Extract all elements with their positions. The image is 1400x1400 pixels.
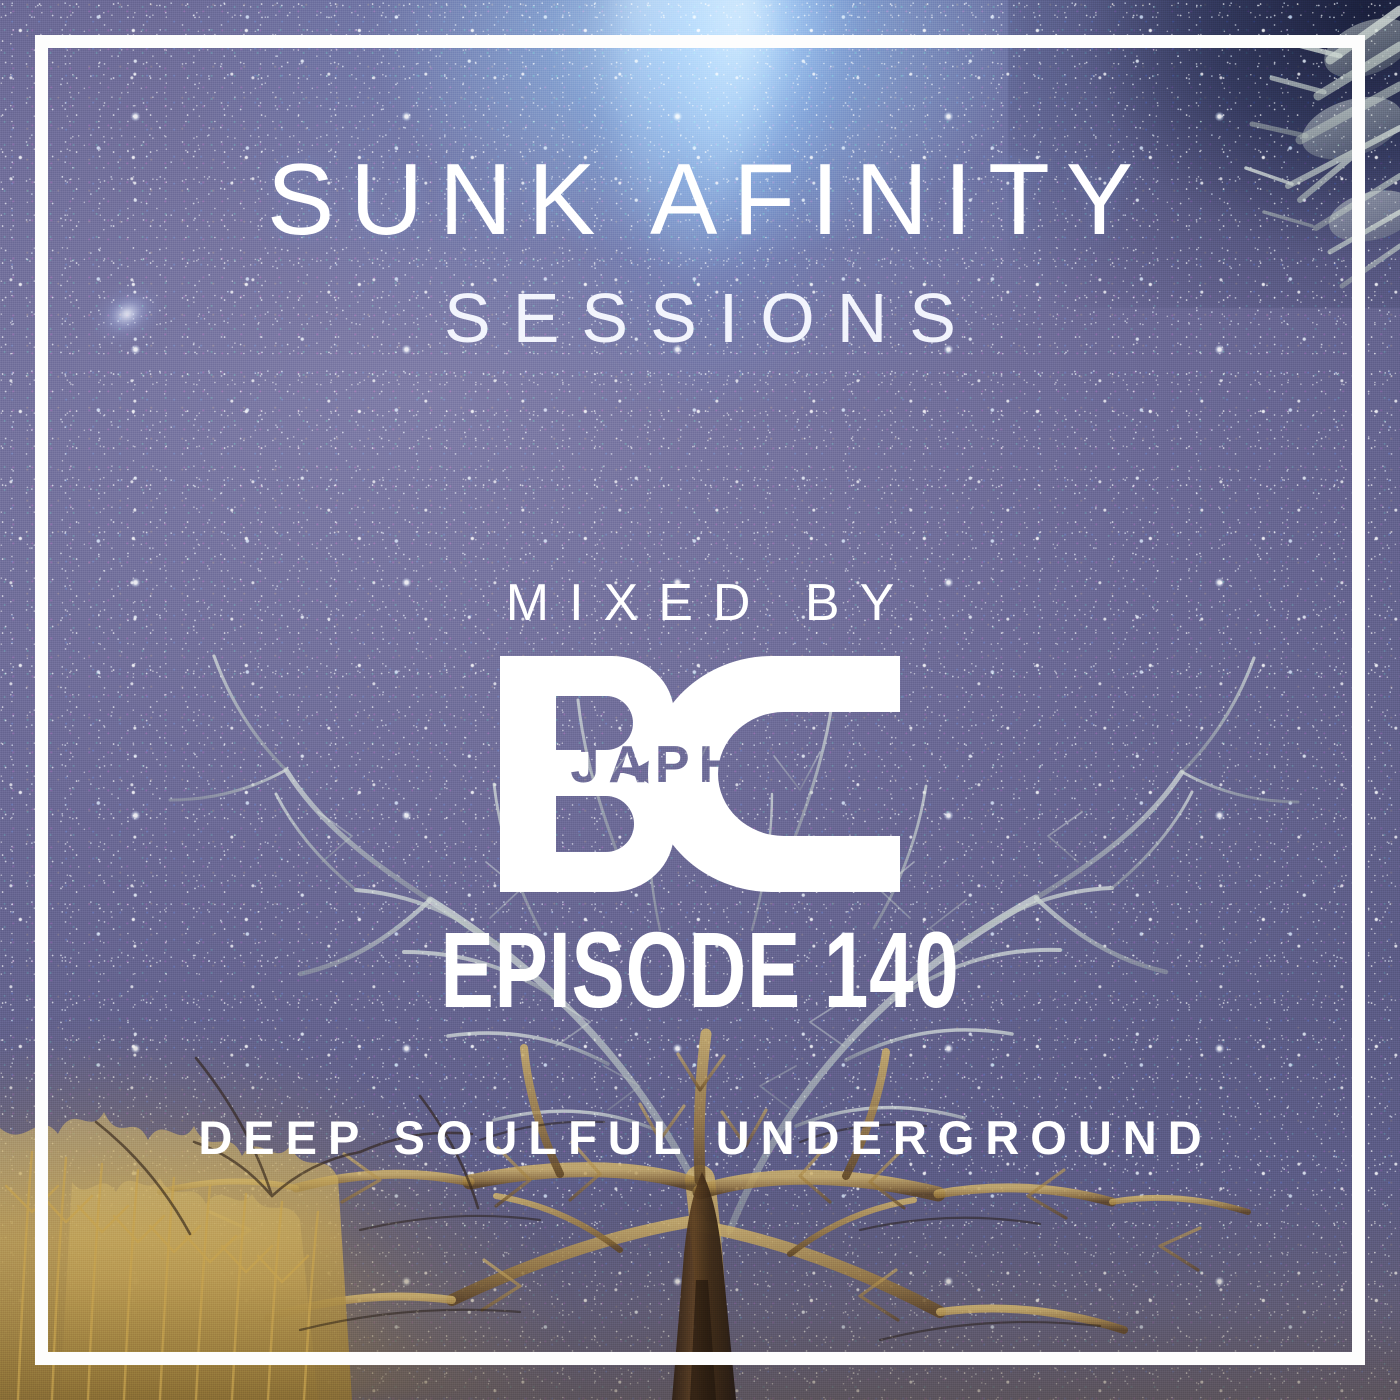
artwork-text-content: SUNK AFINITY SESSIONS MIXED BY JAPHET	[0, 0, 1400, 1400]
mixed-by-label: MIXED BY	[0, 577, 1400, 629]
genre-tagline: DEEP SOULFUL UNDERGROUND	[0, 1114, 1400, 1161]
album-cover-artwork: SUNK AFINITY SESSIONS MIXED BY JAPHET	[0, 0, 1400, 1400]
artist-logo: JAPHET	[494, 650, 906, 898]
series-subtitle: SESSIONS	[0, 283, 1400, 353]
page-title: SUNK AFINITY	[0, 150, 1400, 251]
episode-number: EPISODE 140	[182, 916, 1218, 1024]
